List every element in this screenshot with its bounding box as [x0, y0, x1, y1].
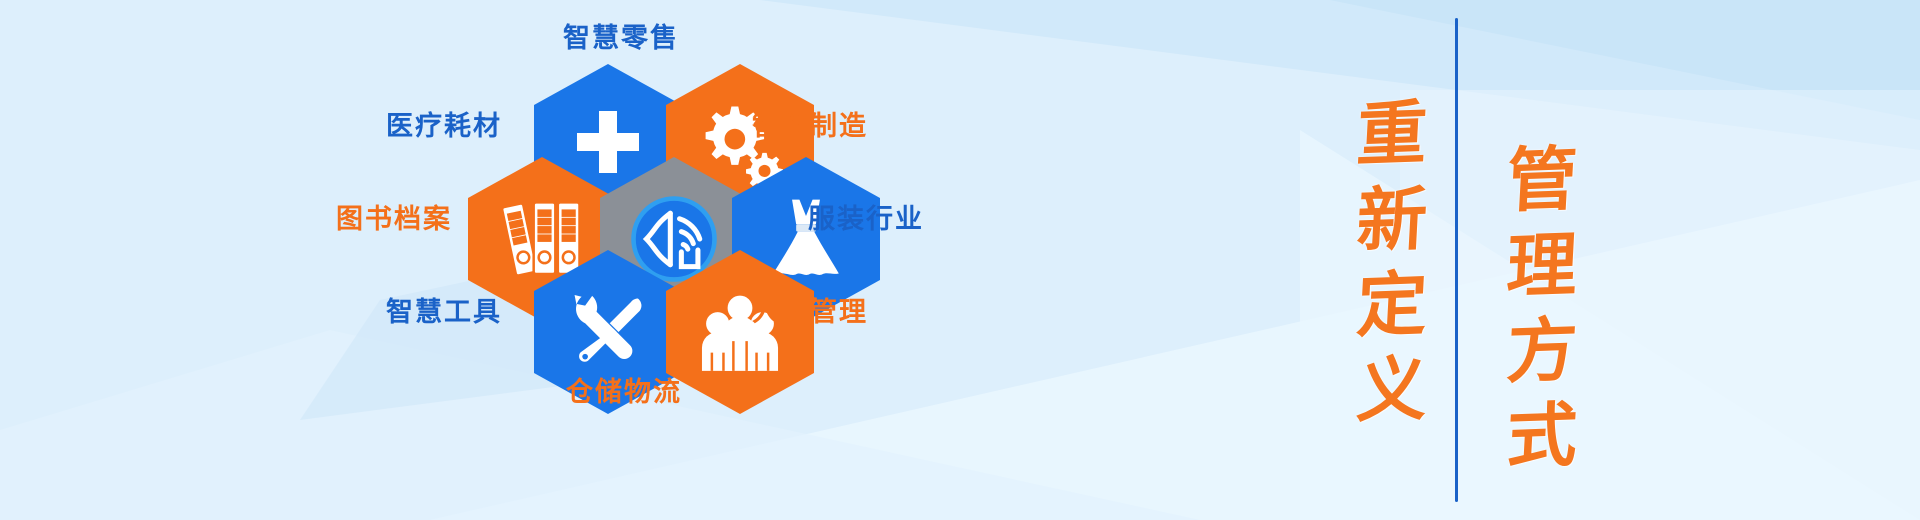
calligraphy-char: 义 [1355, 346, 1430, 434]
label-apparel: 服装行业 [808, 197, 924, 236]
label-logistics: 仓储物流 [566, 370, 682, 409]
calligraphy-char: 式 [1505, 392, 1580, 480]
calligraphy-char: 新 [1355, 175, 1430, 263]
wrench-screwdriver-icon [564, 288, 652, 376]
calligraphy-char: 理 [1505, 221, 1580, 309]
medical-cross-icon [569, 107, 647, 185]
calligraphy-char: 管 [1505, 136, 1580, 224]
label-books-archive: 图书档案 [336, 197, 452, 236]
calligraphy-left-column: 重 新 定 义 [1332, 0, 1452, 520]
label-manufacturing: 智能制造 [752, 104, 868, 143]
binders-archive-icon [500, 199, 584, 279]
banner-stage: 智慧零售 医疗耗材 智能制造 图书档案 服装行业 智慧工具 人员管理 仓储物流 … [0, 0, 1920, 520]
calligraphy-block: 重 新 定 义 管 理 方 式 [1290, 0, 1630, 520]
calligraphy-divider-line [1455, 18, 1458, 502]
calligraphy-char: 定 [1355, 261, 1430, 349]
label-medical: 医疗耗材 [386, 104, 502, 143]
label-tools: 智慧工具 [386, 290, 502, 329]
calligraphy-right-column: 管 理 方 式 [1482, 0, 1602, 520]
label-people: 人员管理 [752, 290, 868, 329]
calligraphy-char: 方 [1505, 307, 1580, 395]
label-retail: 智慧零售 [563, 16, 679, 55]
calligraphy-char: 重 [1355, 90, 1430, 178]
